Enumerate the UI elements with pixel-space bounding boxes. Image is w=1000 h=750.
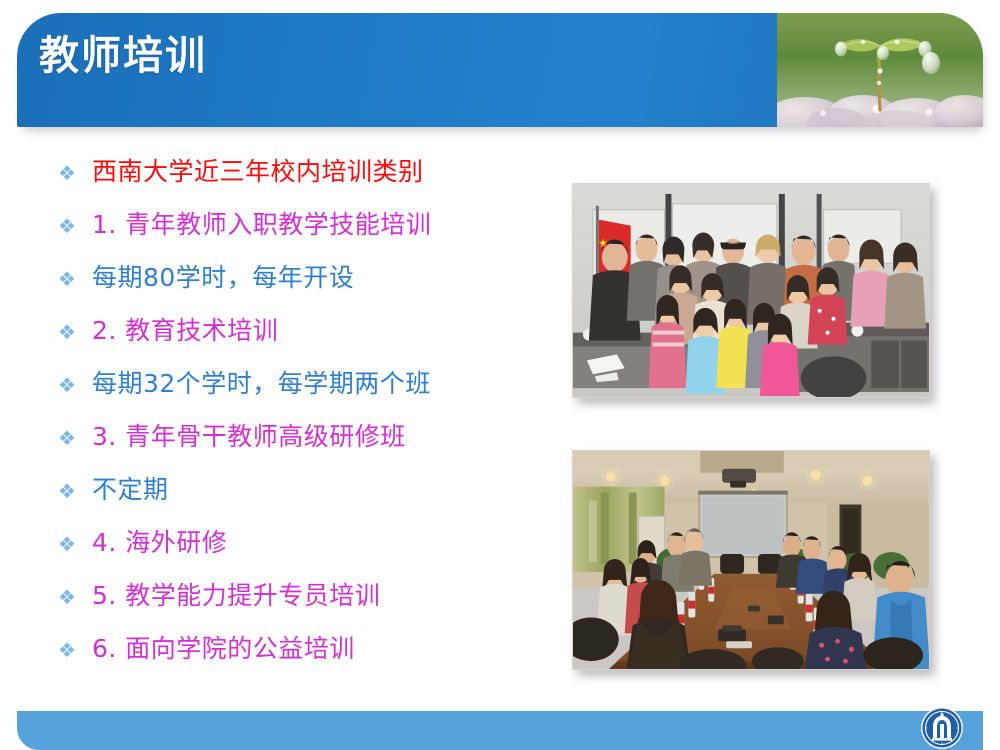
list-item: ❖ 3. 青年骨干教师高级研修班 bbox=[58, 423, 558, 476]
list-item: ❖ 每期32个学时，每学期两个班 bbox=[58, 370, 558, 423]
list-item: ❖ 西南大学近三年校内培训类别 bbox=[58, 158, 558, 211]
list-item-label: 3. 青年骨干教师高级研修班 bbox=[92, 423, 406, 451]
list-item: ❖ 2. 教育技术培训 bbox=[58, 317, 558, 370]
list-item-label: 4. 海外研修 bbox=[92, 529, 227, 557]
diamond-bullet-icon: ❖ bbox=[58, 428, 92, 448]
slide-canvas: 教师培训 bbox=[0, 0, 1000, 750]
diamond-bullet-icon: ❖ bbox=[58, 269, 92, 289]
list-item-label: 每期32个学时，每学期两个班 bbox=[92, 370, 431, 398]
diamond-bullet-icon: ❖ bbox=[58, 481, 92, 501]
list-item: ❖ 6. 面向学院的公益培训 bbox=[58, 635, 558, 688]
list-item-label: 5. 教学能力提升专员培训 bbox=[92, 582, 380, 610]
diamond-bullet-icon: ❖ bbox=[58, 163, 92, 183]
page-title: 教师培训 bbox=[39, 36, 207, 76]
list-item: ❖ 不定期 bbox=[58, 476, 558, 529]
list-item-label: 西南大学近三年校内培训类别 bbox=[92, 158, 424, 186]
footer-band bbox=[17, 711, 983, 750]
diamond-bullet-icon: ❖ bbox=[58, 216, 92, 236]
diamond-bullet-icon: ❖ bbox=[58, 640, 92, 660]
group-photo-classroom bbox=[572, 183, 930, 398]
banner-body: 教师培训 bbox=[17, 13, 983, 127]
bullet-list: ❖ 西南大学近三年校内培训类别 ❖ 1. 青年教师入职教学技能培训 ❖ 每期80… bbox=[58, 158, 558, 688]
list-item-label: 6. 面向学院的公益培训 bbox=[92, 635, 355, 663]
list-item: ❖ 5. 教学能力提升专员培训 bbox=[58, 582, 558, 635]
seedling-photo bbox=[777, 13, 983, 127]
list-item-label: 1. 青年教师入职教学技能培训 bbox=[92, 211, 431, 239]
header-banner: 教师培训 bbox=[17, 13, 983, 129]
list-item-label: 每期80学时，每年开设 bbox=[92, 264, 354, 292]
list-item: ❖ 1. 青年教师入职教学技能培训 bbox=[58, 211, 558, 264]
diamond-bullet-icon: ❖ bbox=[58, 534, 92, 554]
list-item: ❖ 每期80学时，每年开设 bbox=[58, 264, 558, 317]
list-item-label: 不定期 bbox=[92, 476, 169, 504]
meeting-room-seminar bbox=[572, 450, 930, 670]
diamond-bullet-icon: ❖ bbox=[58, 587, 92, 607]
diamond-bullet-icon: ❖ bbox=[58, 322, 92, 342]
list-item-label: 2. 教育技术培训 bbox=[92, 317, 278, 345]
diamond-bullet-icon: ❖ bbox=[58, 375, 92, 395]
southwest-university-emblem-icon bbox=[920, 706, 964, 750]
list-item: ❖ 4. 海外研修 bbox=[58, 529, 558, 582]
